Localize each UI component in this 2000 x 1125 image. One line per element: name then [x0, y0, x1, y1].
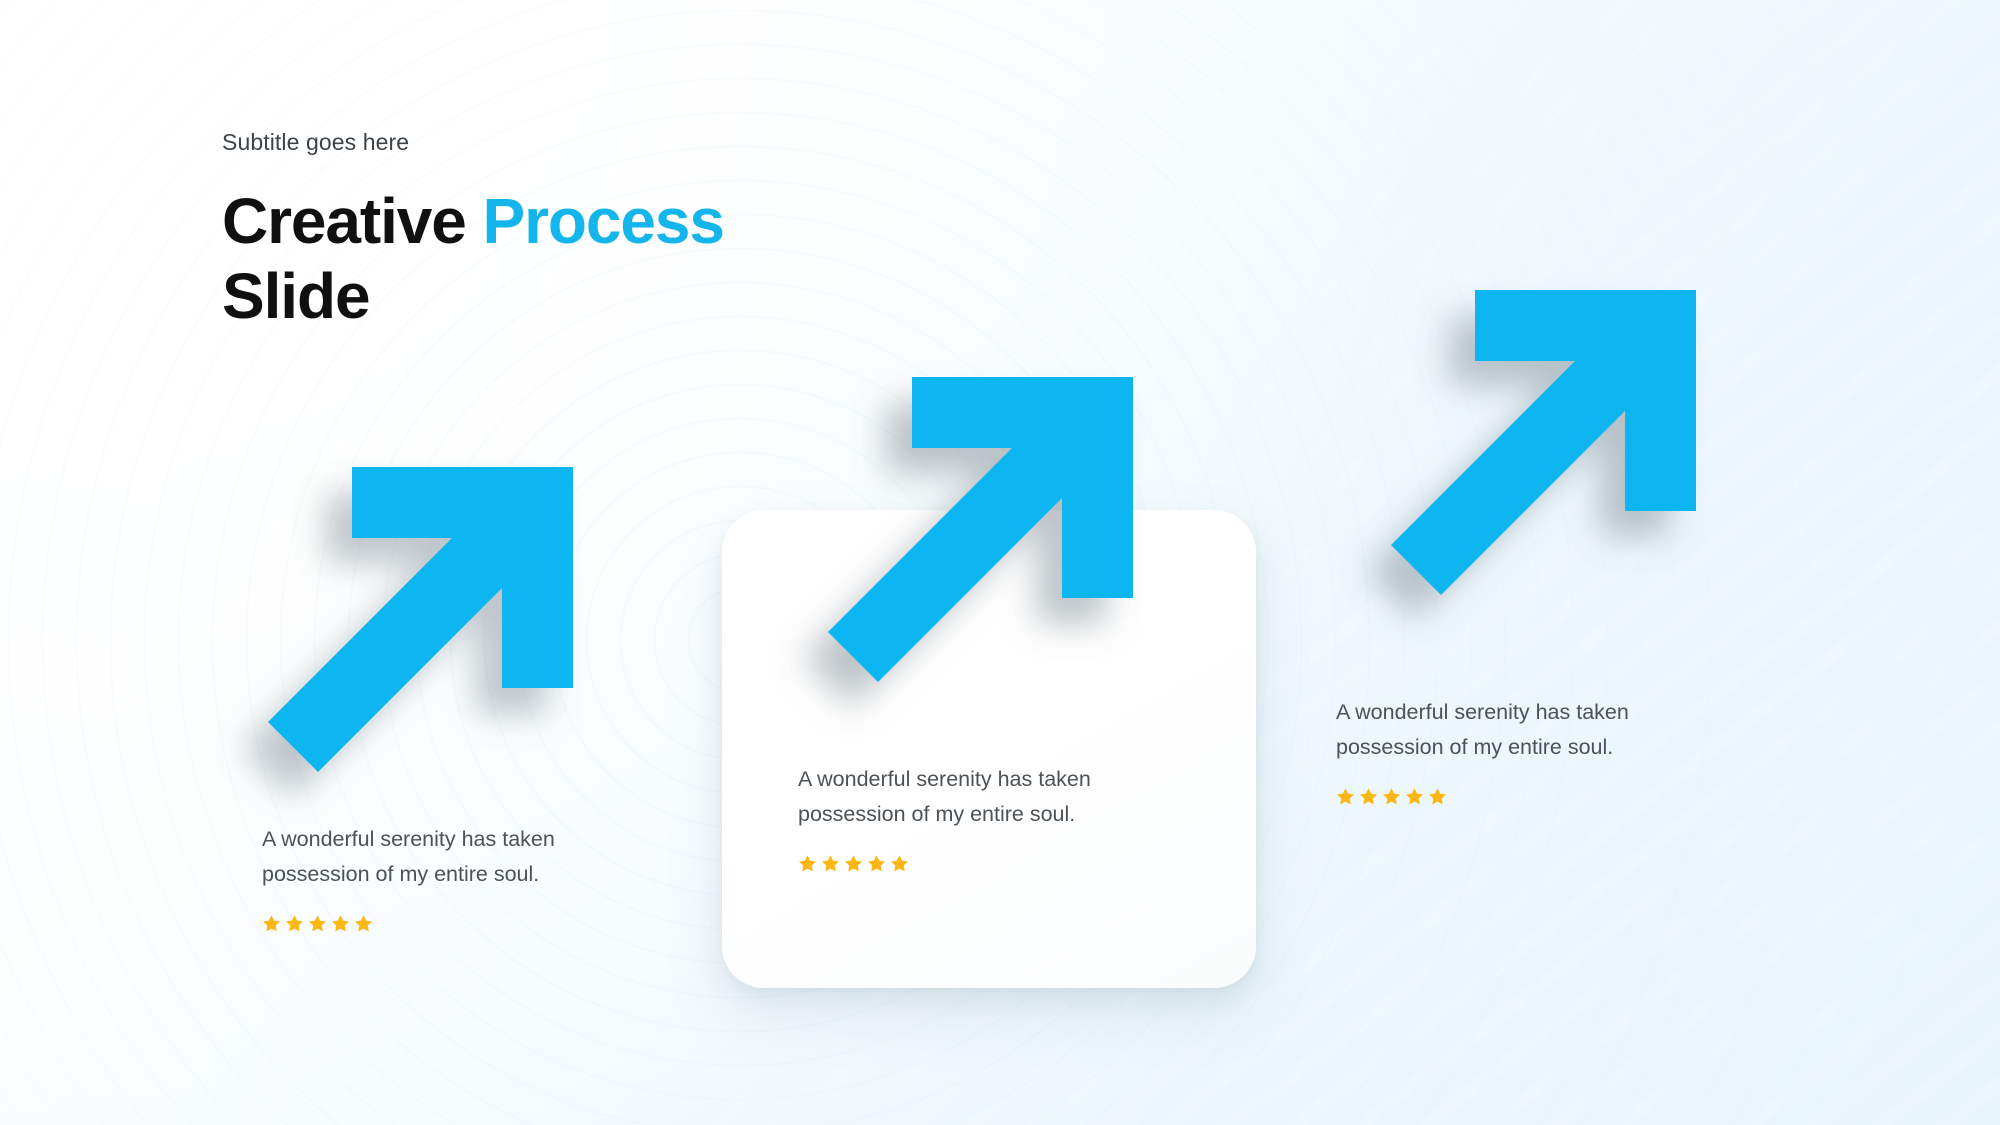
title-part-accent: Process [482, 185, 723, 257]
star-icon [1405, 787, 1424, 806]
star-icon [890, 854, 909, 873]
star-icon [1428, 787, 1447, 806]
star-icon [798, 854, 817, 873]
star-icon [1359, 787, 1378, 806]
testimonial-quote: A wonderful serenity has taken possessio… [1336, 695, 1676, 765]
star-icon [331, 914, 350, 933]
star-icon [285, 914, 304, 933]
slide-title: Creative Process Slide [222, 184, 1122, 335]
star-icon [262, 914, 281, 933]
title-part-second-line: Slide [222, 260, 369, 332]
slide-canvas: Subtitle goes here Creative Process Slid… [0, 0, 2000, 1125]
star-icon [354, 914, 373, 933]
star-icon [308, 914, 327, 933]
star-rating [262, 914, 592, 933]
testimonial-quote: A wonderful serenity has taken possessio… [262, 822, 592, 892]
slide-subtitle: Subtitle goes here [222, 128, 1122, 158]
star-icon [867, 854, 886, 873]
star-icon [844, 854, 863, 873]
heading-block: Subtitle goes here Creative Process Slid… [222, 128, 1122, 335]
star-rating [1336, 787, 1676, 806]
star-rating [798, 854, 1128, 873]
highlight-card [722, 510, 1256, 988]
testimonial-item-3: A wonderful serenity has taken possessio… [1336, 695, 1676, 806]
title-part-plain: Creative [222, 185, 482, 257]
star-icon [1382, 787, 1401, 806]
testimonial-item-1: A wonderful serenity has taken possessio… [262, 822, 592, 933]
testimonial-quote: A wonderful serenity has taken possessio… [798, 762, 1128, 832]
star-icon [1336, 787, 1355, 806]
testimonial-item-2: A wonderful serenity has taken possessio… [798, 762, 1128, 873]
star-icon [821, 854, 840, 873]
